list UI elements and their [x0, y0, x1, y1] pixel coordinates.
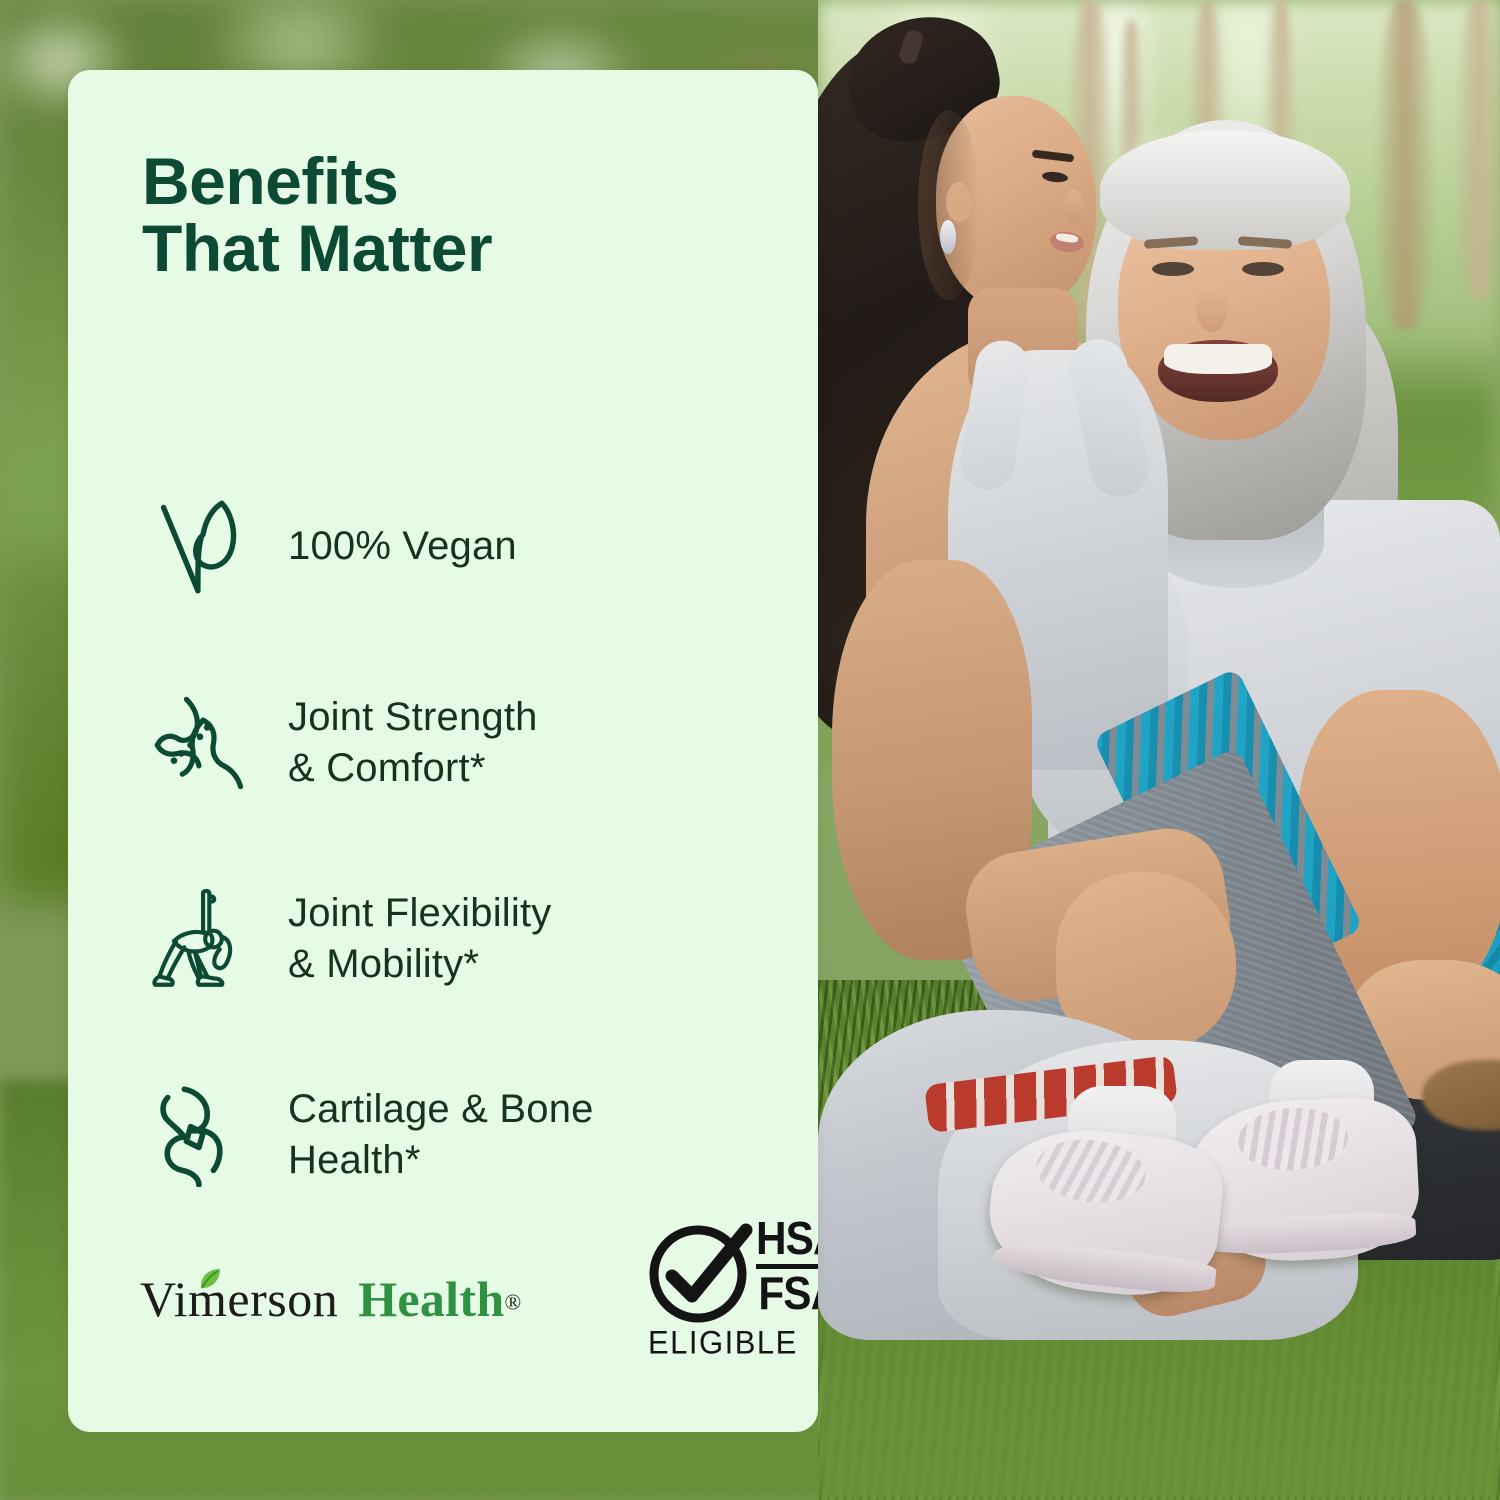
benefits-list: 100% Vegan Joint Strength & Comfort*: [142, 488, 782, 1194]
benefit-label: Joint Strength & Comfort*: [288, 692, 538, 794]
benefit-item-vegan: 100% Vegan: [142, 488, 782, 606]
joint-cartilage-icon: [142, 684, 260, 802]
benefit-label: 100% Vegan: [288, 521, 517, 572]
page-title: Benefits That Matter: [68, 70, 818, 283]
hsa-fsa-text-stack: HSA FSA: [756, 1216, 818, 1316]
brand-logo: Vimerson Health®: [140, 1270, 521, 1328]
hsa-fsa-eligible-badge: HSA FSA ELIGIBLE: [646, 1218, 818, 1368]
registered-trademark-symbol: ®: [504, 1290, 521, 1315]
bone-joint-icon: [142, 1076, 260, 1194]
lifestyle-photo: [818, 0, 1500, 1500]
leaf-sprout-icon: [142, 488, 260, 606]
eligible-label: ELIGIBLE: [648, 1324, 798, 1362]
hsa-label: HSA: [756, 1216, 818, 1261]
brand-name-health: Health: [358, 1271, 504, 1327]
circle-check-icon: [646, 1218, 754, 1326]
benefit-label: Cartilage & Bone Health*: [288, 1084, 594, 1186]
benefit-item-flexibility: Joint Flexibility & Mobility*: [142, 880, 782, 998]
leaf-icon: [194, 1266, 224, 1296]
benefit-item-joint-strength: Joint Strength & Comfort*: [142, 684, 782, 802]
brand-name-vimerson: Vimerson: [140, 1270, 338, 1328]
benefit-label: Joint Flexibility & Mobility*: [288, 888, 551, 990]
fsa-label: FSA: [756, 1271, 818, 1316]
card-footer: Vimerson Health® HSA FSA ELIGI: [68, 1218, 818, 1368]
yoga-triangle-pose-icon: [142, 880, 260, 998]
benefits-card: Benefits That Matter 100% Vegan: [68, 70, 818, 1432]
photo-tone-overlay: [818, 0, 1500, 1500]
benefit-item-cartilage-bone: Cartilage & Bone Health*: [142, 1076, 782, 1194]
